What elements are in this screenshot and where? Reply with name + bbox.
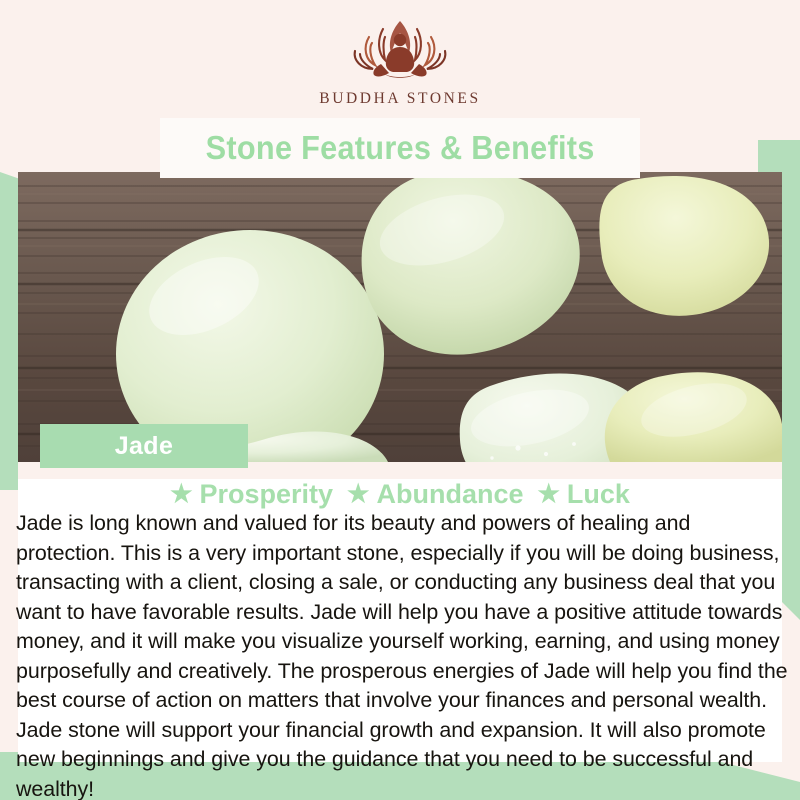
stone-name-bar: Jade <box>40 424 248 468</box>
keyword-luck: ★ Luck <box>537 479 629 510</box>
stone-name-label: Jade <box>115 432 174 461</box>
lotus-meditation-icon <box>325 13 475 87</box>
stone-info-card: BUDDHA STONES <box>0 0 800 800</box>
keyword-label: Prosperity <box>199 479 333 510</box>
star-icon: ★ <box>347 482 369 507</box>
keyword-prosperity: ★ Prosperity <box>170 479 333 510</box>
star-icon: ★ <box>170 482 192 507</box>
page-title: Stone Features & Benefits <box>205 129 594 167</box>
brand-wordmark: BUDDHA STONES <box>319 90 480 108</box>
keyword-abundance: ★ Abundance <box>347 479 523 510</box>
section-title-banner: Stone Features & Benefits <box>160 118 640 178</box>
keyword-label: Abundance <box>376 479 523 510</box>
star-icon: ★ <box>537 482 559 507</box>
brand-logo-block: BUDDHA STONES <box>0 0 800 120</box>
stone-keywords-row: ★ Prosperity ★ Abundance ★ Luck <box>0 479 800 510</box>
jade-stones-photo <box>18 172 782 462</box>
keyword-label: Luck <box>567 479 630 510</box>
stone-description-text: Jade is long known and valued for its be… <box>16 509 790 800</box>
